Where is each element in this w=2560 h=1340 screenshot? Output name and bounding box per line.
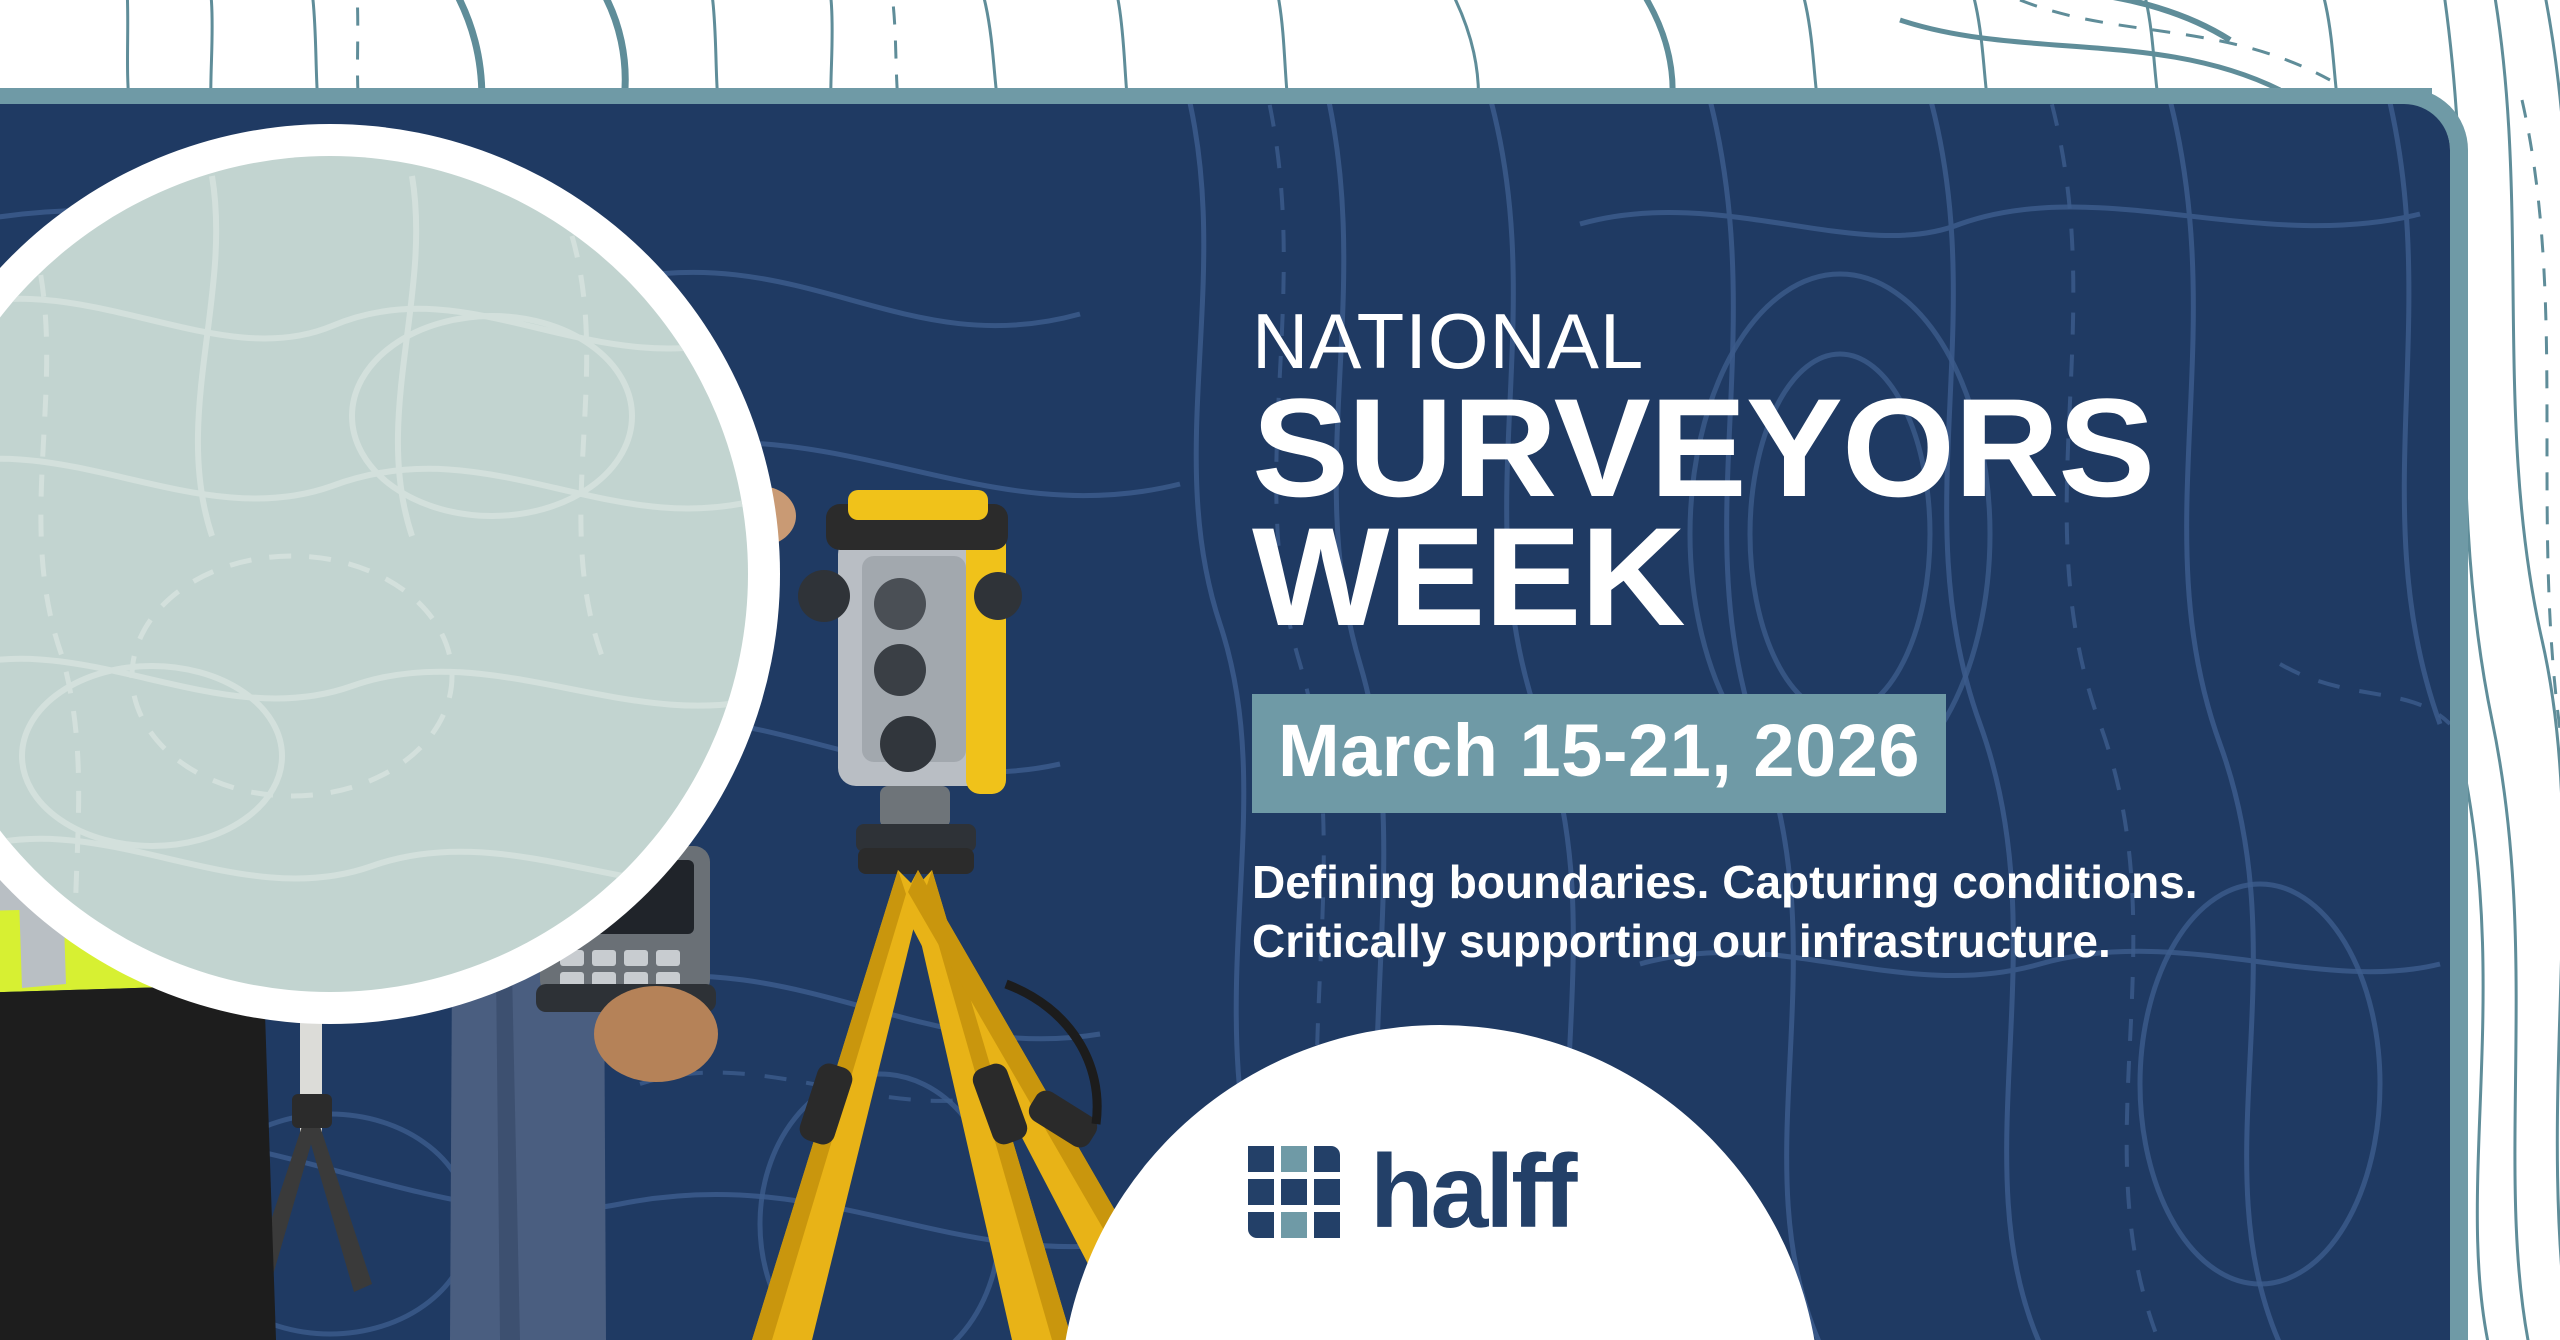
topo-lines-circle-svg bbox=[0, 156, 748, 992]
logo-tile bbox=[1314, 1179, 1340, 1205]
logo-tile bbox=[1248, 1179, 1274, 1205]
tagline-line-1: Defining boundaries. Capturing condition… bbox=[1252, 853, 2432, 912]
logo-tile bbox=[1281, 1179, 1307, 1205]
photo-circle bbox=[0, 124, 780, 1024]
logo-tile bbox=[1248, 1146, 1274, 1172]
halff-logo: halff bbox=[1248, 1140, 1575, 1244]
topographic-band-top bbox=[0, 0, 2560, 100]
halff-wordmark: halff bbox=[1370, 1140, 1575, 1244]
logo-tile bbox=[1281, 1146, 1307, 1172]
topo-lines-right-svg bbox=[2432, 0, 2560, 1340]
photo-circle-fill bbox=[0, 156, 748, 992]
date-badge: March 15-21, 2026 bbox=[1252, 694, 1946, 813]
topographic-band-right bbox=[2432, 0, 2560, 1340]
poster-canvas: NATIONAL SURVEYORS WEEK March 15-21, 202… bbox=[0, 0, 2560, 1340]
logo-tile bbox=[1281, 1212, 1307, 1238]
headline-block: NATIONAL SURVEYORS WEEK March 15-21, 202… bbox=[1252, 304, 2432, 970]
tagline-line-2: Critically supporting our infrastructure… bbox=[1252, 912, 2432, 971]
headline-line-2: WEEK bbox=[1252, 513, 2450, 642]
halff-grid-mark-icon bbox=[1248, 1146, 1340, 1238]
headline-main: SURVEYORS WEEK bbox=[1252, 384, 2450, 642]
logo-tile bbox=[1314, 1146, 1340, 1172]
logo-tile bbox=[1248, 1212, 1274, 1238]
eyebrow-national: NATIONAL bbox=[1252, 304, 2432, 378]
logo-tile bbox=[1314, 1212, 1340, 1238]
topo-lines-top-svg bbox=[0, 0, 2560, 100]
tagline: Defining boundaries. Capturing condition… bbox=[1252, 853, 2432, 971]
